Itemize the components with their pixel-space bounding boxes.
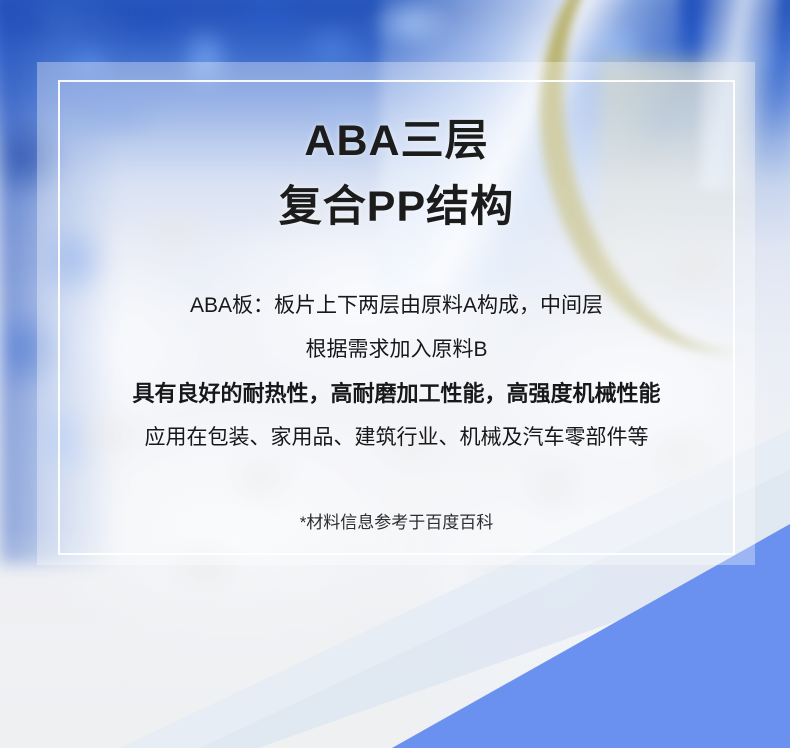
description-line-1: ABA板：板片上下两层由原料A构成，中间层	[58, 284, 735, 328]
description-line-3: 具有良好的耐热性，高耐磨加工性能，高强度机械性能	[58, 372, 735, 416]
source-footnote: *材料信息参考于百度百科	[300, 508, 494, 533]
title-line-1: ABA三层	[279, 108, 514, 174]
poster-content: ABA三层 复合PP结构 ABA板：板片上下两层由原料A构成，中间层 根据需求加…	[58, 80, 735, 555]
description-line-4: 应用在包装、家用品、建筑行业、机械及汽车零部件等	[58, 416, 735, 460]
title-line-2: 复合PP结构	[279, 174, 514, 240]
product-detail-poster: ABA三层 复合PP结构 ABA板：板片上下两层由原料A构成，中间层 根据需求加…	[0, 0, 790, 748]
description-line-2: 根据需求加入原料B	[58, 328, 735, 372]
page-title: ABA三层 复合PP结构	[279, 108, 514, 240]
description-block: ABA板：板片上下两层由原料A构成，中间层 根据需求加入原料B 具有良好的耐热性…	[58, 284, 735, 460]
